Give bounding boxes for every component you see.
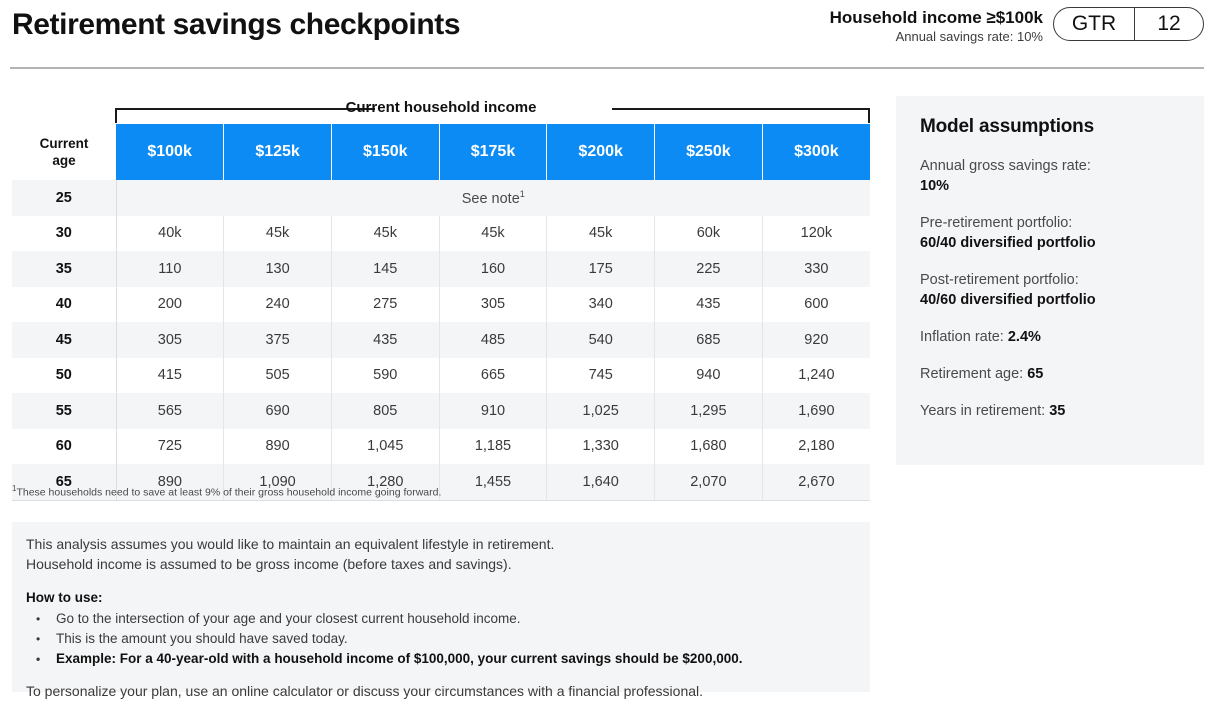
assumption-value: 2.4% bbox=[1008, 329, 1041, 345]
income-column-header-1: $125k bbox=[224, 124, 332, 180]
cell-55-150k: 805 bbox=[331, 393, 439, 429]
assumption-value: 10% bbox=[920, 178, 949, 194]
assumption-value: 60/40 diversified portfolio bbox=[920, 235, 1096, 251]
cell-40-100k: 200 bbox=[116, 287, 224, 323]
list-item: This is the amount you should have saved… bbox=[26, 629, 856, 649]
cell-65-300k: 2,670 bbox=[762, 464, 870, 500]
retirement-checkpoints-table: Current age $100k $125k $150k $175k $200… bbox=[12, 124, 870, 501]
assumption-value: 35 bbox=[1049, 403, 1065, 419]
current-age-header-line1: Current bbox=[40, 136, 89, 151]
table-row: 30 40k 45k 45k 45k 45k 60k 120k bbox=[12, 216, 870, 252]
bracket-line-right bbox=[612, 108, 870, 123]
row-age-45: 45 bbox=[12, 322, 116, 358]
assumption-label: Years in retirement: bbox=[920, 403, 1045, 419]
table-footnote: 1These households need to save at least … bbox=[12, 484, 441, 499]
cell-55-300k: 1,690 bbox=[762, 393, 870, 429]
income-column-header-0: $100k bbox=[116, 124, 224, 180]
table-row: 50 415 505 590 665 745 940 1,240 bbox=[12, 358, 870, 394]
cell-30-200k: 45k bbox=[547, 216, 655, 252]
cell-45-125k: 375 bbox=[224, 322, 332, 358]
cell-40-300k: 600 bbox=[762, 287, 870, 323]
row-age-40: 40 bbox=[12, 287, 116, 323]
cell-45-250k: 685 bbox=[655, 322, 763, 358]
gtr-badge-code: GTR bbox=[1054, 8, 1135, 40]
cell-65-250k: 2,070 bbox=[655, 464, 763, 500]
cell-40-200k: 340 bbox=[547, 287, 655, 323]
page-header: Retirement savings checkpoints Household… bbox=[0, 0, 1214, 68]
cell-30-150k: 45k bbox=[331, 216, 439, 252]
income-column-header-4: $200k bbox=[547, 124, 655, 180]
income-column-header-3: $175k bbox=[439, 124, 547, 180]
cell-55-250k: 1,295 bbox=[655, 393, 763, 429]
see-note-cell: See note1 bbox=[116, 180, 870, 216]
row-age-55: 55 bbox=[12, 393, 116, 429]
cell-50-250k: 940 bbox=[655, 358, 763, 394]
cell-45-175k: 485 bbox=[439, 322, 547, 358]
cell-35-150k: 145 bbox=[331, 251, 439, 287]
footnote-text: These households need to save at least 9… bbox=[16, 487, 441, 499]
table-row: 25 See note1 bbox=[12, 180, 870, 216]
assumption-value: 40/60 diversified portfolio bbox=[920, 292, 1096, 308]
assumption-label: Post-retirement portfolio: bbox=[920, 272, 1079, 288]
table-head: Current age $100k $125k $150k $175k $200… bbox=[12, 124, 870, 180]
row-age-30: 30 bbox=[12, 216, 116, 252]
cell-60-125k: 890 bbox=[224, 429, 332, 465]
cell-30-175k: 45k bbox=[439, 216, 547, 252]
cell-30-125k: 45k bbox=[224, 216, 332, 252]
assumption-annual-gross-savings-rate: Annual gross savings rate: 10% bbox=[920, 156, 1180, 196]
gtr-badge-number: 12 bbox=[1135, 8, 1203, 40]
see-note-text: See note bbox=[462, 191, 520, 207]
list-item: Example: For a 40-year-old with a househ… bbox=[26, 649, 856, 669]
notes-footer: To personalize your plan, use an online … bbox=[26, 681, 856, 701]
current-age-header: Current age bbox=[12, 124, 116, 180]
page-title: Retirement savings checkpoints bbox=[12, 8, 460, 42]
table-body: 25 See note1 30 40k 45k 45k 45k 45k 60k … bbox=[12, 180, 870, 500]
cell-45-300k: 920 bbox=[762, 322, 870, 358]
cell-50-200k: 745 bbox=[547, 358, 655, 394]
table-row: 35 110 130 145 160 175 225 330 bbox=[12, 251, 870, 287]
assumption-label: Retirement age: bbox=[920, 366, 1023, 382]
cell-35-175k: 160 bbox=[439, 251, 547, 287]
header-divider bbox=[10, 67, 1204, 69]
assumption-post-retirement-portfolio: Post-retirement portfolio: 40/60 diversi… bbox=[920, 270, 1180, 310]
cell-35-300k: 330 bbox=[762, 251, 870, 287]
assumption-value: 65 bbox=[1027, 366, 1043, 382]
cell-60-175k: 1,185 bbox=[439, 429, 547, 465]
income-column-header-2: $150k bbox=[331, 124, 439, 180]
assumption-label: Pre-retirement portfolio: bbox=[920, 215, 1072, 231]
notes-line-1: This analysis assumes you would like to … bbox=[26, 534, 856, 554]
cell-35-200k: 175 bbox=[547, 251, 655, 287]
cell-60-100k: 725 bbox=[116, 429, 224, 465]
table-row: 60 725 890 1,045 1,185 1,330 1,680 2,180 bbox=[12, 429, 870, 465]
header-income-block: Household income ≥$100k Annual savings r… bbox=[830, 4, 1043, 46]
cell-35-100k: 110 bbox=[116, 251, 224, 287]
assumption-label: Inflation rate: bbox=[920, 329, 1004, 345]
cell-50-150k: 590 bbox=[331, 358, 439, 394]
row-age-25: 25 bbox=[12, 180, 116, 216]
assumption-retirement-age: Retirement age: 65 bbox=[920, 364, 1180, 384]
cell-50-300k: 1,240 bbox=[762, 358, 870, 394]
cell-65-200k: 1,640 bbox=[547, 464, 655, 500]
annual-savings-rate-label: Annual savings rate: 10% bbox=[830, 28, 1043, 46]
cell-60-150k: 1,045 bbox=[331, 429, 439, 465]
cell-50-125k: 505 bbox=[224, 358, 332, 394]
model-assumptions-title: Model assumptions bbox=[920, 116, 1180, 138]
cell-55-175k: 910 bbox=[439, 393, 547, 429]
cell-40-250k: 435 bbox=[655, 287, 763, 323]
cell-45-100k: 305 bbox=[116, 322, 224, 358]
cell-45-200k: 540 bbox=[547, 322, 655, 358]
cell-50-175k: 665 bbox=[439, 358, 547, 394]
assumption-years-in-retirement: Years in retirement: 35 bbox=[920, 401, 1180, 421]
cell-50-100k: 415 bbox=[116, 358, 224, 394]
cell-55-125k: 690 bbox=[224, 393, 332, 429]
current-age-header-line2: age bbox=[52, 153, 75, 168]
row-age-50: 50 bbox=[12, 358, 116, 394]
cell-60-300k: 2,180 bbox=[762, 429, 870, 465]
cell-55-100k: 565 bbox=[116, 393, 224, 429]
table-row: 45 305 375 435 485 540 685 920 bbox=[12, 322, 870, 358]
table-row: 40 200 240 275 305 340 435 600 bbox=[12, 287, 870, 323]
cell-35-250k: 225 bbox=[655, 251, 763, 287]
cell-30-300k: 120k bbox=[762, 216, 870, 252]
cell-45-150k: 435 bbox=[331, 322, 439, 358]
list-item: Go to the intersection of your age and y… bbox=[26, 609, 856, 629]
assumption-inflation-rate: Inflation rate: 2.4% bbox=[920, 327, 1180, 347]
cell-55-200k: 1,025 bbox=[547, 393, 655, 429]
notes-line-2: Household income is assumed to be gross … bbox=[26, 554, 856, 574]
cell-40-125k: 240 bbox=[224, 287, 332, 323]
cell-60-200k: 1,330 bbox=[547, 429, 655, 465]
income-bracket: Current household income bbox=[12, 96, 870, 124]
assumption-label: Annual gross savings rate: bbox=[920, 158, 1091, 174]
assumption-pre-retirement-portfolio: Pre-retirement portfolio: 60/40 diversif… bbox=[920, 213, 1180, 253]
income-column-header-6: $300k bbox=[762, 124, 870, 180]
cell-65-175k: 1,455 bbox=[439, 464, 547, 500]
header-right-group: Household income ≥$100k Annual savings r… bbox=[830, 4, 1204, 46]
cell-35-125k: 130 bbox=[224, 251, 332, 287]
household-income-label: Household income ≥$100k bbox=[830, 7, 1043, 28]
cell-30-100k: 40k bbox=[116, 216, 224, 252]
cell-30-250k: 60k bbox=[655, 216, 763, 252]
table-header-row: Current age $100k $125k $150k $175k $200… bbox=[12, 124, 870, 180]
cell-40-150k: 275 bbox=[331, 287, 439, 323]
income-column-header-5: $250k bbox=[655, 124, 763, 180]
cell-60-250k: 1,680 bbox=[655, 429, 763, 465]
row-age-60: 60 bbox=[12, 429, 116, 465]
table-row: 55 565 690 805 910 1,025 1,295 1,690 bbox=[12, 393, 870, 429]
cell-40-175k: 305 bbox=[439, 287, 547, 323]
gtr-badge: GTR 12 bbox=[1053, 7, 1204, 41]
how-to-use-title: How to use: bbox=[26, 590, 856, 605]
checkpoints-table-wrapper: Current household income Current age $10… bbox=[12, 96, 870, 501]
row-age-35: 35 bbox=[12, 251, 116, 287]
model-assumptions-panel: Model assumptions Annual gross savings r… bbox=[896, 96, 1204, 465]
how-to-use-list: Go to the intersection of your age and y… bbox=[26, 609, 856, 669]
see-note-marker: 1 bbox=[520, 189, 525, 199]
usage-notes-panel: This analysis assumes you would like to … bbox=[12, 522, 870, 692]
